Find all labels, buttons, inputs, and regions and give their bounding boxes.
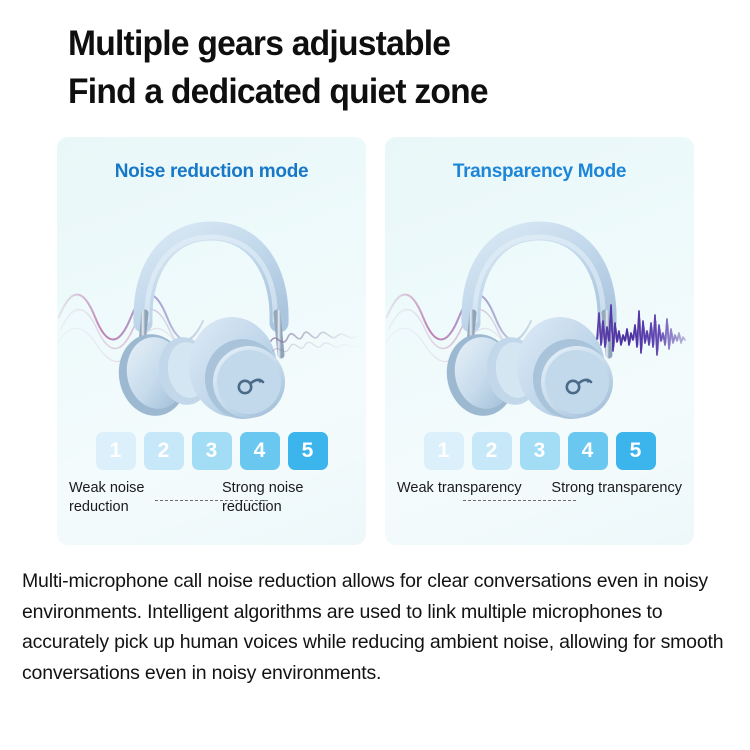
gear-level-3[interactable]: 3 (192, 432, 232, 470)
gear-level-2[interactable]: 2 (144, 432, 184, 470)
transparency-illustration (385, 195, 694, 430)
gear-level-5[interactable]: 5 (616, 432, 656, 470)
gear-label-weak: Weak noise reduction (69, 479, 201, 517)
gear-level-4[interactable]: 4 (240, 432, 280, 470)
headline-line-2: Find a dedicated quiet zone (68, 68, 682, 116)
headphones-graphic (440, 231, 613, 423)
card-noise-reduction-mode: Noise reduction mode (57, 137, 366, 545)
gear-level-4[interactable]: 4 (568, 432, 608, 470)
headphones-graphic (112, 231, 285, 423)
card-title-transparency: Transparency Mode (385, 161, 694, 183)
body-paragraph: Multi-microphone call noise reduction al… (22, 566, 734, 688)
card-title-noise-reduction: Noise reduction mode (57, 161, 366, 183)
gear-range-labels: Weak noise reduction Strong noise reduct… (69, 479, 354, 517)
headline-line-1: Multiple gears adjustable (68, 20, 682, 68)
gear-level-group-noise-reduction: 1 2 3 4 5 (57, 432, 366, 470)
gear-level-2[interactable]: 2 (472, 432, 512, 470)
gear-level-5[interactable]: 5 (288, 432, 328, 470)
gear-label-weak: Weak transparency (397, 479, 522, 498)
gear-range-labels: Weak transparency Strong transparency (397, 479, 682, 498)
mode-cards-row: Noise reduction mode (57, 137, 694, 545)
gear-range-connector (463, 500, 576, 501)
gear-level-1[interactable]: 1 (424, 432, 464, 470)
gear-level-3[interactable]: 3 (520, 432, 560, 470)
page-headline: Multiple gears adjustable Find a dedicat… (68, 20, 708, 116)
gear-level-1[interactable]: 1 (96, 432, 136, 470)
gear-level-group-transparency: 1 2 3 4 5 (385, 432, 694, 470)
noise-reduction-illustration (57, 195, 366, 430)
card-transparency-mode: Transparency Mode (385, 137, 694, 545)
gear-label-strong: Strong transparency (551, 479, 682, 498)
gear-label-strong: Strong noise reduction (222, 479, 354, 517)
